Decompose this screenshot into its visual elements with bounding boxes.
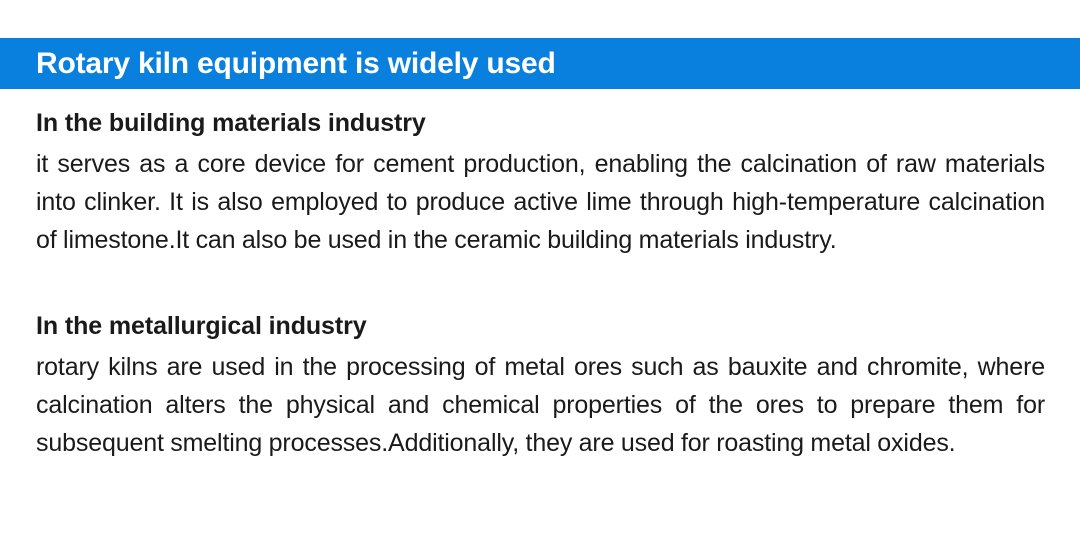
- section-paragraph: it serves as a core device for cement pr…: [36, 145, 1045, 259]
- section-heading: In the building materials industry: [36, 104, 1045, 142]
- section-paragraph: rotary kilns are used in the processing …: [36, 348, 1045, 462]
- page-title: Rotary kiln equipment is widely used: [36, 49, 556, 79]
- title-banner: Rotary kiln equipment is widely used: [0, 38, 1080, 89]
- content-body: In the building materials industry it se…: [36, 104, 1045, 462]
- section-building-materials: In the building materials industry it se…: [36, 104, 1045, 259]
- page-root: Rotary kiln equipment is widely used In …: [0, 0, 1080, 560]
- section-metallurgical: In the metallurgical industry rotary kil…: [36, 307, 1045, 462]
- section-heading: In the metallurgical industry: [36, 307, 1045, 345]
